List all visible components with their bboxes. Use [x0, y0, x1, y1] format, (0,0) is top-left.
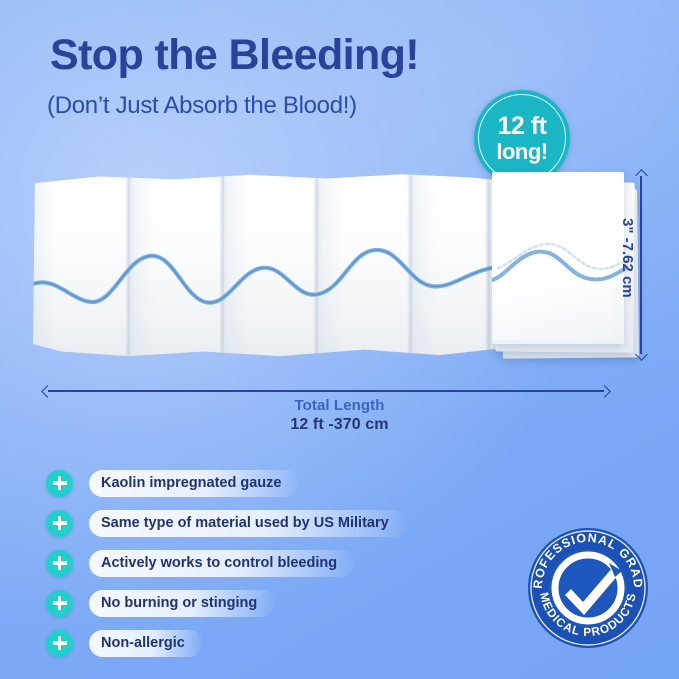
feature-label: Same type of material used by US Militar… — [89, 510, 407, 537]
fold-line — [313, 172, 322, 357]
feature-list: Kaolin impregnated gauze Same type of ma… — [46, 463, 516, 663]
fold-line — [219, 172, 228, 357]
fold-line — [407, 172, 416, 357]
list-item: Actively works to control bleeding — [46, 543, 516, 583]
feature-label: Kaolin impregnated gauze — [89, 470, 299, 497]
product-image — [20, 160, 660, 375]
plus-icon — [46, 590, 73, 617]
arrow-down-icon — [635, 348, 648, 361]
height-dimension-label: 3" -7.62 cm — [619, 218, 636, 298]
length-badge-line2: long! — [496, 141, 547, 163]
page-title: Stop the Bleeding! — [50, 31, 419, 80]
length-dimension-label: Total Length 12 ft -370 cm — [0, 396, 679, 436]
list-item: No burning or stinging — [46, 583, 516, 623]
plus-icon — [46, 510, 73, 537]
page-subtitle: (Don’t Just Absorb the Blood!) — [47, 92, 357, 120]
list-item: Non-allergic — [46, 623, 516, 663]
plus-icon — [46, 470, 73, 497]
total-length-title: Total Length — [0, 396, 679, 415]
plus-icon — [46, 630, 73, 657]
gauze-unfolded-sheet — [33, 172, 506, 357]
length-badge-text: 12 ft long! — [496, 114, 547, 163]
length-badge-line1: 12 ft — [496, 114, 547, 139]
total-length-value: 12 ft -370 cm — [0, 415, 679, 435]
feature-label: Non-allergic — [89, 630, 203, 657]
feature-label: Actively works to control bleeding — [89, 550, 355, 577]
list-item: Kaolin impregnated gauze — [46, 463, 516, 503]
fold-line — [125, 172, 134, 357]
plus-icon — [46, 550, 73, 577]
professional-grade-seal: PROFESSIONAL GRADE MEDICAL PRODUCTS — [527, 527, 649, 649]
height-dimension-line — [634, 170, 648, 360]
list-item: Same type of material used by US Militar… — [46, 503, 516, 543]
feature-label: No burning or stinging — [89, 590, 275, 617]
infographic-canvas: Stop the Bleeding! (Don’t Just Absorb th… — [0, 0, 679, 679]
